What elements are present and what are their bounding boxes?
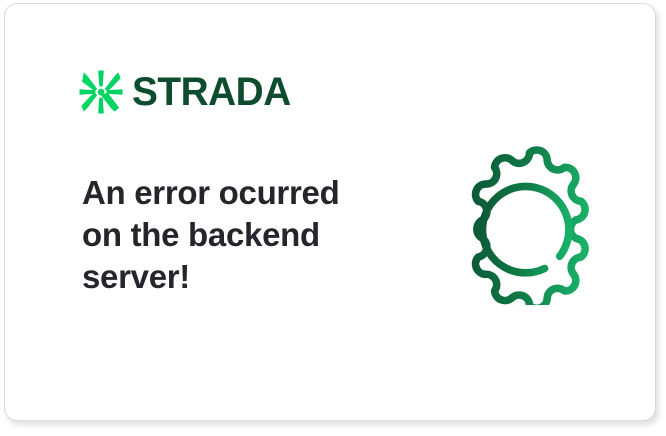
- strada-asterisk-icon: [79, 70, 123, 114]
- brand-logo: STRADA: [79, 70, 296, 114]
- error-message-text: An error ocurred on the backend server!: [82, 172, 382, 298]
- screen: STRADA An error ocurred on the backend s…: [0, 0, 666, 436]
- gear-cog-icon: [448, 142, 611, 305]
- error-card: STRADA An error ocurred on the backend s…: [4, 3, 656, 421]
- brand-wordmark: STRADA: [132, 72, 291, 112]
